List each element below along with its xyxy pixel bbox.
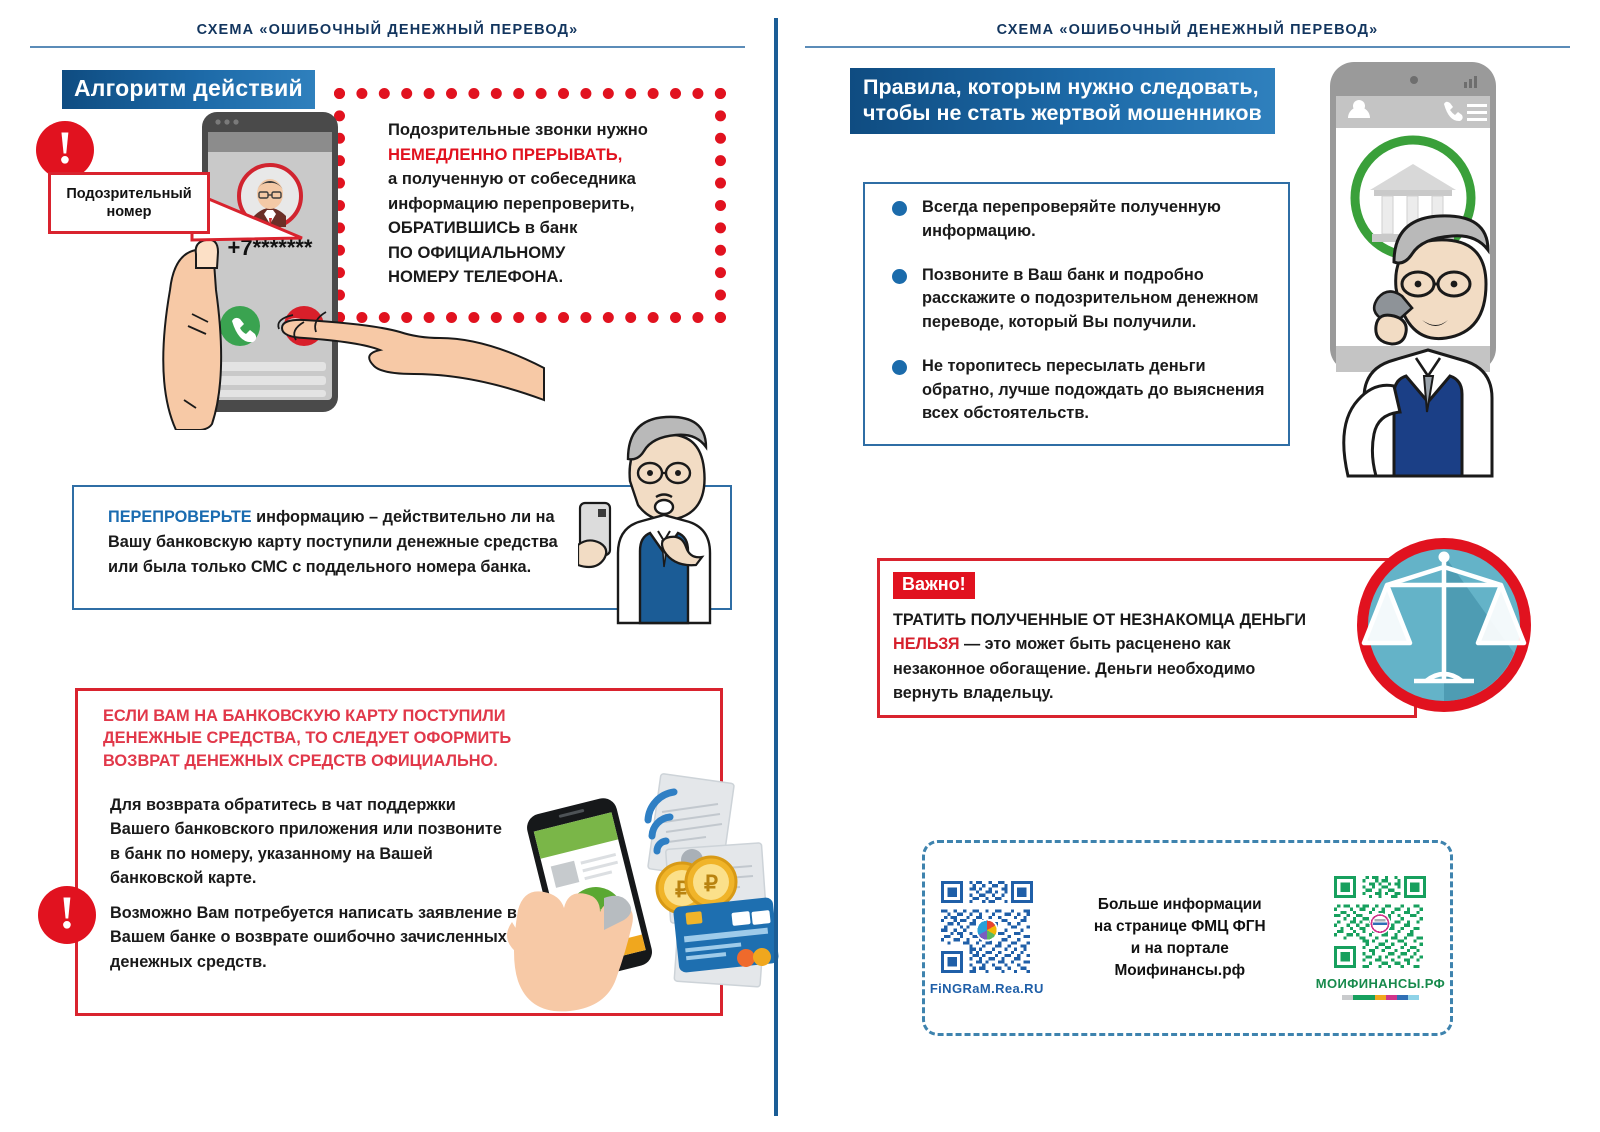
mobile-payment-illustration: ₽ ₽ [500,760,780,1045]
important-warning-text: ТРАТИТЬ ПОЛУЧЕННЫЕ ОТ НЕЗНАКОМЦА ДЕНЬГИ … [893,608,1313,705]
swatch-green [1353,995,1364,1000]
swatch-green-2 [1364,995,1375,1000]
list-item: Не торопитесь пересылать деньги обратно,… [886,355,1276,426]
callout-label-text: Подозрительный номер [51,185,207,221]
list-item: Позвоните в Ваш банк и подробно расскажи… [886,264,1276,335]
scales-of-justice-illustration [1352,533,1537,723]
bullet-text: Позвоните в Ваш банк и подробно расскажи… [922,266,1259,332]
left-panel: СХЕМА «ОШИБОЧНЫЙ ДЕНЕЖНЫЙ ПЕРЕВОД» Алгор… [0,0,775,1132]
thinking-man-illustration [578,385,738,630]
left-page-header: СХЕМА «ОШИБОЧНЫЙ ДЕНЕЖНЫЙ ПЕРЕВОД» [30,22,745,42]
rules-title-line-1: Правила, которым нужно следовать, [863,75,1259,99]
svg-text:₽: ₽ [704,871,718,896]
important-part-1: ТРАТИТЬ ПОЛУЧЕННЫЕ ОТ НЕЗНАКОМЦА ДЕНЬГИ [893,611,1306,629]
left-header-rule [30,46,745,48]
bullet-dot-icon [892,360,907,375]
right-page-header: СХЕМА «ОШИБОЧНЫЙ ДЕНЕЖНЫЙ ПЕРЕВОД» [805,22,1570,42]
footer-qr-box: FiNGRaM.Rea.RU Больше информации на стра… [922,840,1453,1036]
rules-bullet-list: Всегда перепроверяйте полученную информа… [886,196,1276,446]
infographic-page: СХЕМА «ОШИБОЧНЫЙ ДЕНЕЖНЫЙ ПЕРЕВОД» Алгор… [0,0,1600,1132]
important-emphasis: НЕЛЬЗЯ [893,635,959,653]
qr-unit-fingram[interactable]: FiNGRaM.Rea.RU [930,881,1044,996]
swatch-orange [1375,995,1386,1000]
important-badge: Важно! [893,572,975,599]
suspicious-number-callout: Подозрительный номер [48,172,210,234]
callout-pointer-arrow [190,186,350,276]
bullet-text: Не торопитесь пересылать деньги обратно,… [922,357,1264,423]
senior-calling-bank-illustration [1288,58,1588,483]
list-item: Всегда перепроверяйте полученную информа… [886,196,1276,244]
exclamation-icon-bottom: ! [38,886,96,944]
bullet-dot-icon [892,269,907,284]
refund-paragraph-1: Для возврата обратитесь в чат поддержки … [110,793,510,891]
more-info-text: Больше информации на странице ФМЦ ФГН и … [1090,894,1270,982]
recheck-text: ПЕРЕПРОВЕРЬТЕ информацию – действительно… [108,505,558,579]
brand-swatches [1342,995,1419,1000]
algorithm-title-chip: Алгоритм действий [62,70,315,109]
swatch-magenta [1386,995,1397,1000]
qr-code-fingram-icon[interactable] [941,881,1033,973]
exclamation-icon-top: ! [36,121,94,179]
qr-fingram-caption: FiNGRaM.Rea.RU [930,981,1044,996]
recheck-lead: ПЕРЕПРОВЕРЬТЕ [108,508,252,526]
bullet-dot-icon [892,201,907,216]
swatch-lightblue [1408,995,1419,1000]
swatch-blue [1397,995,1408,1000]
right-header-rule [805,46,1570,48]
qr-moifinansy-caption: МОИФИНАНСЫ.РФ [1316,976,1445,991]
refund-paragraph-2: Возможно Вам потребуется написать заявле… [110,901,520,974]
qr-unit-moifinansy[interactable]: МОИФИНАНСЫ.РФ [1316,876,1445,1000]
rules-title-chip: Правила, которым нужно следовать, чтобы … [850,68,1275,134]
rules-title-line-2: чтобы не стать жертвой мошенников [863,101,1262,125]
swatch-grey [1342,995,1353,1000]
bullet-text: Всегда перепроверяйте полученную информа… [922,198,1221,240]
qr-code-moifinansy-icon[interactable] [1334,876,1426,968]
